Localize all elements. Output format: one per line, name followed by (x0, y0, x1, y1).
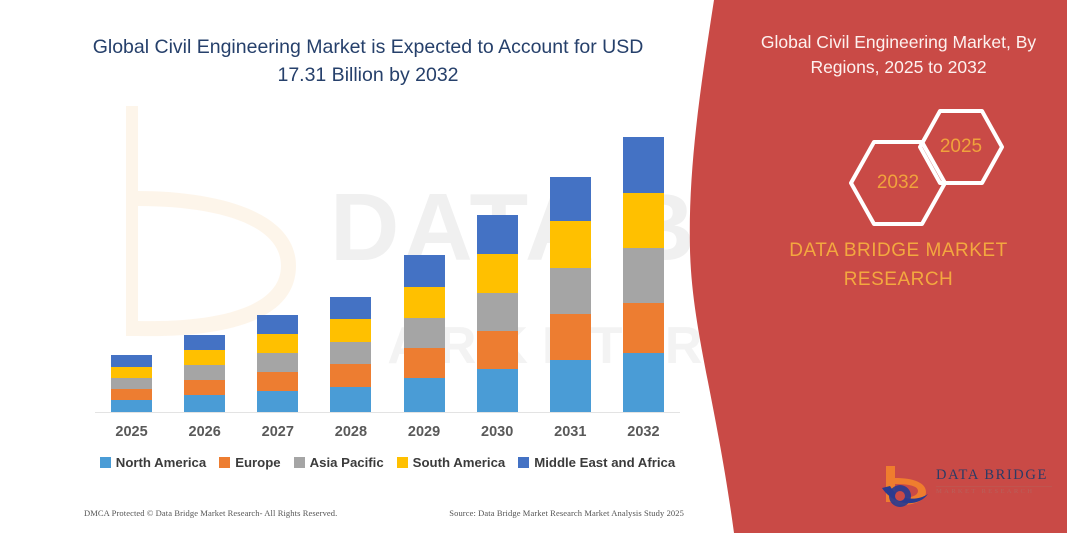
bar-segment (623, 248, 664, 303)
x-axis-label: 2026 (168, 424, 241, 440)
chart-legend: North AmericaEuropeAsia PacificSouth Ame… (95, 455, 680, 470)
data-bridge-logo: DATA BRIDGE MARKET RESEARCH (878, 462, 1053, 510)
logo-sub-text: MARKET RESEARCH (936, 488, 1056, 495)
bar-segment (184, 395, 225, 412)
bar-segment (330, 319, 371, 342)
legend-swatch-icon (518, 457, 529, 468)
bar-segment (550, 360, 591, 412)
stacked-bar (477, 215, 518, 412)
bar-column (534, 120, 607, 412)
bar-segment (257, 372, 298, 391)
legend-label: Middle East and Africa (534, 455, 675, 470)
x-axis-label: 2029 (388, 424, 461, 440)
stacked-bar (330, 297, 371, 412)
bar-segment (477, 331, 518, 369)
stacked-bar (111, 355, 152, 412)
bar-column (95, 120, 168, 412)
stacked-bar (550, 177, 591, 412)
hexagon-group: 2032 2025 (730, 105, 1067, 210)
bar-segment (330, 297, 371, 319)
legend-item[interactable]: Middle East and Africa (518, 455, 675, 470)
bar-segment (404, 287, 445, 318)
x-axis-label: 2025 (95, 424, 168, 440)
bar-segment (550, 177, 591, 221)
bar-segment (477, 215, 518, 254)
bar-segment (550, 314, 591, 360)
legend-item[interactable]: South America (397, 455, 506, 470)
red-panel-title: Global Civil Engineering Market, By Regi… (740, 30, 1057, 81)
bar-segment (257, 315, 298, 334)
chart-title: Global Civil Engineering Market is Expec… (88, 34, 648, 89)
x-axis-label: 2028 (314, 424, 387, 440)
x-axis-label: 2027 (241, 424, 314, 440)
bar-segment (404, 348, 445, 378)
bar-segment (257, 391, 298, 412)
legend-label: Europe (235, 455, 280, 470)
legend-item[interactable]: Asia Pacific (294, 455, 384, 470)
bar-segment (477, 293, 518, 331)
bar-segment (111, 367, 152, 378)
x-axis-label: 2032 (607, 424, 680, 440)
bar-segment (111, 400, 152, 412)
bar-segment (623, 353, 664, 412)
stacked-bar (257, 315, 298, 412)
bar-segment (623, 303, 664, 353)
legend-swatch-icon (100, 457, 111, 468)
bar-segment (404, 318, 445, 348)
bar-segment (330, 364, 371, 387)
bar-segment (404, 378, 445, 412)
stacked-bar (404, 255, 445, 412)
bar-segment (330, 342, 371, 364)
bar-segment (111, 355, 152, 367)
data-bridge-logo-mark-icon (878, 462, 930, 510)
bar-segment (184, 365, 225, 380)
legend-item[interactable]: North America (100, 455, 206, 470)
bar-segment (623, 193, 664, 248)
bar-segment (111, 389, 152, 400)
legend-swatch-icon (397, 457, 408, 468)
hexagon-2025: 2025 (916, 107, 1006, 187)
bar-column (168, 120, 241, 412)
x-axis-labels: 20252026202720282029203020312032 (95, 424, 680, 440)
bar-column (388, 120, 461, 412)
red-panel-content: Global Civil Engineering Market, By Regi… (730, 0, 1067, 533)
bar-column (607, 120, 680, 412)
brand-line-1: DATA BRIDGE MARKET (748, 236, 1049, 265)
infographic-canvas: DATA BRIDGE MARKET RESEARCH Global Civil… (0, 0, 1067, 533)
bar-segment (550, 268, 591, 314)
stacked-bar (184, 335, 225, 412)
bar-segment (184, 350, 225, 365)
bar-segment (257, 353, 298, 372)
x-axis-label: 2030 (461, 424, 534, 440)
x-axis-line (95, 412, 680, 413)
brand-line-2: RESEARCH (748, 265, 1049, 294)
legend-label: Asia Pacific (310, 455, 384, 470)
bar-segment (550, 221, 591, 268)
bar-segment (257, 334, 298, 353)
stacked-bar (623, 137, 664, 412)
bar-segment (111, 378, 152, 389)
legend-label: North America (116, 455, 206, 470)
bar-segment (477, 254, 518, 293)
legend-label: South America (413, 455, 506, 470)
x-axis-label: 2031 (534, 424, 607, 440)
red-panel-brand: DATA BRIDGE MARKET RESEARCH (748, 236, 1049, 295)
legend-item[interactable]: Europe (219, 455, 280, 470)
footer-copyright: DMCA Protected © Data Bridge Market Rese… (84, 508, 337, 518)
legend-swatch-icon (219, 457, 230, 468)
footer-source: Source: Data Bridge Market Research Mark… (449, 508, 684, 518)
bar-column (314, 120, 387, 412)
bar-column (461, 120, 534, 412)
legend-swatch-icon (294, 457, 305, 468)
bar-segment (184, 335, 225, 350)
footer: DMCA Protected © Data Bridge Market Rese… (84, 508, 684, 518)
data-bridge-logo-text: DATA BRIDGE MARKET RESEARCH (936, 468, 1056, 495)
stacked-bar-chart (95, 120, 680, 412)
bar-segment (477, 369, 518, 412)
bar-segment (330, 387, 371, 412)
logo-main-text: DATA BRIDGE (936, 468, 1056, 484)
bar-segment (404, 255, 445, 287)
logo-divider (936, 486, 1052, 487)
bar-column (241, 120, 314, 412)
hexagon-2025-label: 2025 (916, 107, 1006, 187)
bar-segment (184, 380, 225, 395)
bar-segment (623, 137, 664, 193)
